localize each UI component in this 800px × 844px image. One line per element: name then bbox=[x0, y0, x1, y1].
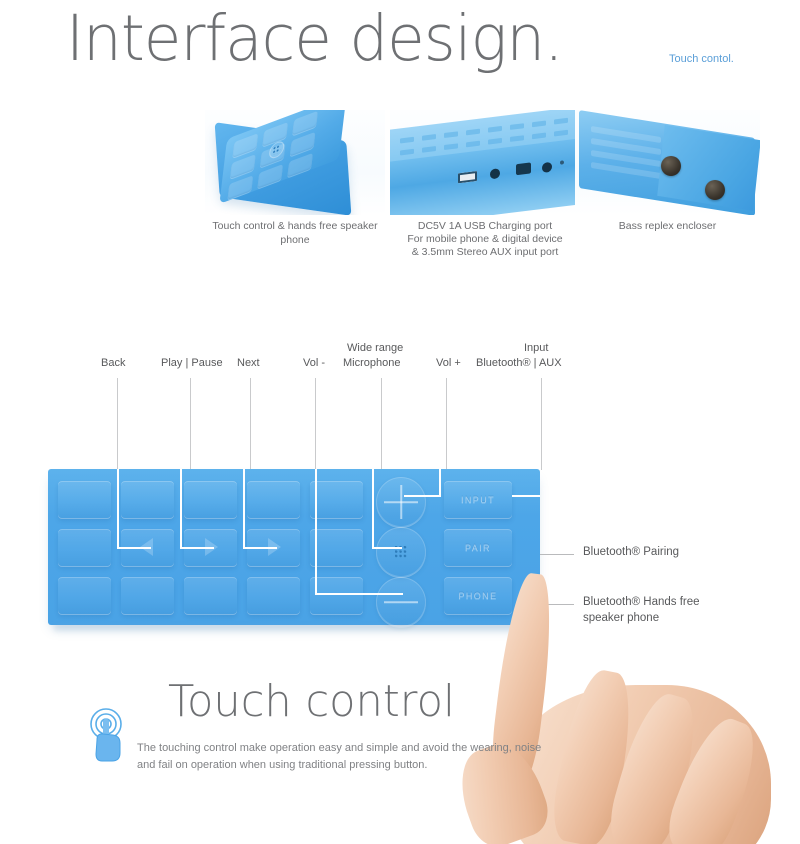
inner-leader-play-h bbox=[180, 547, 214, 549]
leader-line-back bbox=[117, 378, 118, 470]
callout-vol-up: Vol + bbox=[436, 356, 461, 370]
aux-jack-icon bbox=[490, 168, 500, 179]
inner-leader-voldown-h bbox=[315, 593, 403, 595]
inner-leader-next-h bbox=[243, 547, 277, 549]
hand-photo bbox=[455, 565, 800, 844]
keypad-button-microphone[interactable] bbox=[376, 527, 426, 577]
inner-leader-volup-h bbox=[404, 495, 441, 497]
inner-leader-volup-v bbox=[439, 469, 441, 497]
keypad-pad-r3c2[interactable] bbox=[121, 577, 174, 614]
keypad-button-volume-up[interactable] bbox=[376, 477, 426, 527]
keypad-button-volume-down[interactable] bbox=[376, 577, 426, 627]
touch-body-line-1: The touching control make operation easy… bbox=[137, 742, 512, 754]
keypad-pad-r3c5[interactable] bbox=[310, 577, 363, 614]
product-photo-1: Touch control & hands free speaker phone bbox=[205, 110, 385, 215]
photo-2-caption-line-1: DC5V 1A USB Charging port bbox=[390, 220, 580, 234]
port-side-image bbox=[390, 110, 580, 215]
product-photo-2: DC5V 1A USB Charging port For mobile pho… bbox=[390, 110, 580, 215]
bass-port-1-icon bbox=[661, 156, 681, 176]
leader-line-microphone bbox=[381, 378, 382, 470]
page-title: Interface design. bbox=[66, 2, 563, 75]
inner-leader-play-v bbox=[180, 469, 182, 549]
annotation-bluetooth-pairing: Bluetooth® Pairing bbox=[583, 545, 679, 561]
bass-port-2-icon bbox=[705, 180, 725, 200]
keypad-pad-r1c2[interactable] bbox=[121, 481, 174, 518]
callout-back: Back bbox=[101, 356, 125, 370]
inner-leader-back-v bbox=[117, 469, 119, 549]
keypad-input-label: INPUT bbox=[444, 495, 512, 505]
usb-port-icon bbox=[458, 171, 477, 183]
page-header: Interface design. Touch contol. bbox=[0, 0, 800, 95]
keypad-pad-r3c3[interactable] bbox=[184, 577, 237, 614]
inner-leader-back-h bbox=[117, 547, 151, 549]
product-photo-3: Bass replex encloser bbox=[575, 110, 760, 215]
bass-reflex-image bbox=[575, 110, 760, 215]
photo-3-caption: Bass replex encloser bbox=[575, 220, 760, 234]
leader-line-input bbox=[541, 378, 542, 470]
inner-leader-input-h bbox=[512, 495, 540, 497]
photo-2-caption-line-2: For mobile phone & digital device bbox=[390, 233, 580, 247]
touch-ripple-hand-icon bbox=[82, 707, 130, 763]
leader-line-play bbox=[190, 378, 191, 470]
inner-leader-mic-v bbox=[372, 469, 374, 549]
callout-next: Next bbox=[237, 356, 260, 370]
angled-speaker-image bbox=[205, 110, 385, 215]
keypad-pair-label: PAIR bbox=[444, 543, 512, 553]
inner-leader-voldown-v bbox=[315, 469, 317, 595]
photo-2-caption-line-3: & 3.5mm Stereo AUX input port bbox=[390, 246, 580, 260]
keypad-button-input[interactable]: INPUT bbox=[444, 481, 512, 518]
callout-vol-down: Vol - bbox=[303, 356, 325, 370]
keypad-pad-r3c1[interactable] bbox=[58, 577, 111, 614]
leader-line-next bbox=[250, 378, 251, 470]
keypad-pad-r1c4[interactable] bbox=[247, 481, 300, 518]
keypad-pad-r2c1[interactable] bbox=[58, 529, 111, 566]
annot-dash-pairing bbox=[540, 554, 574, 555]
inner-leader-mic-h bbox=[372, 547, 402, 549]
keypad-pad-r2c5[interactable] bbox=[310, 529, 363, 566]
leader-line-vol-up bbox=[446, 378, 447, 470]
photo-1-caption: Touch control & hands free speaker phone bbox=[205, 220, 385, 247]
title-accent-text: Touch contol. bbox=[669, 53, 734, 65]
leader-line-vol-down bbox=[315, 378, 316, 470]
keypad-pad-r1c1[interactable] bbox=[58, 481, 111, 518]
keypad-button-pair[interactable]: PAIR bbox=[444, 529, 512, 566]
callout-mic-line-2: Microphone bbox=[343, 356, 400, 370]
callout-play-pause: Play | Pause bbox=[161, 356, 223, 370]
inner-leader-next-v bbox=[243, 469, 245, 549]
led-indicator-icon bbox=[560, 160, 564, 164]
keypad-pad-r3c4[interactable] bbox=[247, 577, 300, 614]
callout-mic-line-1: Wide range bbox=[347, 341, 403, 355]
aux-jack-2-icon bbox=[542, 162, 552, 173]
keypad-pad-r1c3[interactable] bbox=[184, 481, 237, 518]
callout-input-aux: Bluetooth® | AUX bbox=[476, 356, 562, 370]
callout-input-line-1: Input bbox=[524, 341, 548, 355]
micro-usb-port-icon bbox=[516, 162, 531, 175]
touch-control-heading: Touch control bbox=[168, 676, 455, 727]
touch-control-body: The touching control make operation easy… bbox=[137, 740, 557, 774]
keypad-pad-r1c5[interactable] bbox=[310, 481, 363, 518]
